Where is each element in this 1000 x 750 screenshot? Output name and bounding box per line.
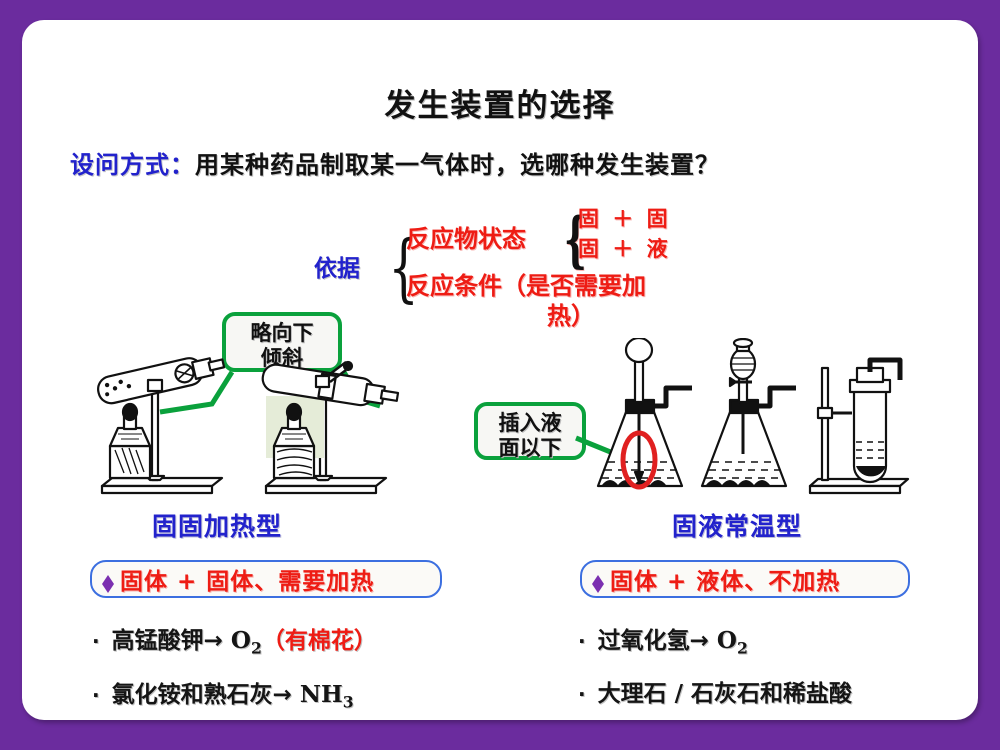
example-line: · 过氧化氢→ O2 <box>578 618 968 672</box>
callout-right-line2: 面以下 <box>499 436 562 460</box>
summary-box-right: 固体 + 液体、不加热 <box>580 560 910 598</box>
alcohol-lamp-1 <box>110 404 150 478</box>
product: NH3 <box>300 681 354 708</box>
basis-block: 依据 { 反应物状态 { 固 ＋ 固 固 ＋ 液 反应条件（是否需要加 热） <box>302 213 732 331</box>
bullet: · <box>92 683 100 707</box>
basis-row-reactant-state: 反应物状态 { 固 ＋ 固 固 ＋ 液 <box>406 219 526 254</box>
summary-right-text: 固体 + 液体、不加热 <box>610 562 840 596</box>
apparatus-group-solid-liquid-roomtemp <box>582 338 912 503</box>
basis-row1-label: 反应物状态 <box>406 225 526 253</box>
basis-label: 依据 <box>314 249 360 283</box>
pair-solid-liquid: 固 ＋ 液 <box>578 237 671 261</box>
callout-right-line1: 插入液 <box>499 411 562 435</box>
examples-left: · 高锰酸钾→ O2（有棉花） · 氯化铵和熟石灰→ NH3 <box>92 618 512 720</box>
example-line: · 大理石 / 石灰石和稀盐酸 → CO2 <box>578 672 968 720</box>
product: O2 <box>231 627 262 654</box>
question-line: 设问方式：用某种药品制取某一气体时，选哪种发生装置？ <box>70 145 940 180</box>
bullet: · <box>578 629 586 653</box>
arrow-icon: → <box>273 682 292 708</box>
basis-pairs: 固 ＋ 固 固 ＋ 液 <box>578 204 671 264</box>
reagent: 大理石 / 石灰石和稀盐酸 <box>598 681 852 707</box>
note: （有棉花） <box>262 628 377 654</box>
pair-solid-solid: 固 ＋ 固 <box>578 207 671 231</box>
examples-right: · 过氧化氢→ O2 · 大理石 / 石灰石和稀盐酸 → CO2 <box>578 618 968 720</box>
reagent: 过氧化氢 <box>598 628 690 654</box>
example-line: · 高锰酸钾→ O2（有棉花） <box>92 618 512 672</box>
reagent: 高锰酸钾 <box>112 628 204 654</box>
basis-row2-head: 反应条件（是否需要加 <box>406 272 646 300</box>
basis-row-condition: 反应条件（是否需要加 热） <box>406 271 736 331</box>
diamond-bullet-icon <box>592 575 604 584</box>
clamp-1 <box>148 380 162 391</box>
apparatus-group-solid-solid-heating <box>84 338 424 503</box>
caption-solid-liquid-roomtemp: 固液常温型 <box>672 507 802 543</box>
summary-box-left: 固体 + 固体、需要加热 <box>90 560 442 598</box>
example-line: · 氯化铵和熟石灰→ NH3 <box>92 672 512 720</box>
callout-insert-below-liquid: 插入液 面以下 <box>474 402 586 460</box>
arrow-icon: → <box>690 628 709 654</box>
test-tube-1 <box>96 351 227 406</box>
arrow-icon: → <box>204 628 223 654</box>
reagent: 氯化铵和熟石灰 <box>112 682 273 708</box>
diamond-bullet-icon <box>102 575 114 584</box>
bullet: · <box>92 629 100 653</box>
test-tube-on-stand <box>810 360 908 493</box>
conical-flask-separating-funnel <box>702 339 796 486</box>
basis-row2-tail: 热） <box>406 301 736 331</box>
conical-flask-long-stem-funnel <box>598 338 692 486</box>
product: O2 <box>717 627 748 654</box>
question-label: 设问方式： <box>70 151 195 179</box>
summary-left-text: 固体 + 固体、需要加热 <box>120 562 374 596</box>
question-body: 用某种药品制取某一气体时，选哪种发生装置？ <box>195 151 720 179</box>
bullet: · <box>578 682 586 706</box>
slide-card: 发生装置的选择 设问方式：用某种药品制取某一气体时，选哪种发生装置？ 依据 { … <box>22 20 978 720</box>
page-title: 发生装置的选择 <box>22 80 978 125</box>
caption-solid-solid-heating: 固固加热型 <box>152 507 282 543</box>
